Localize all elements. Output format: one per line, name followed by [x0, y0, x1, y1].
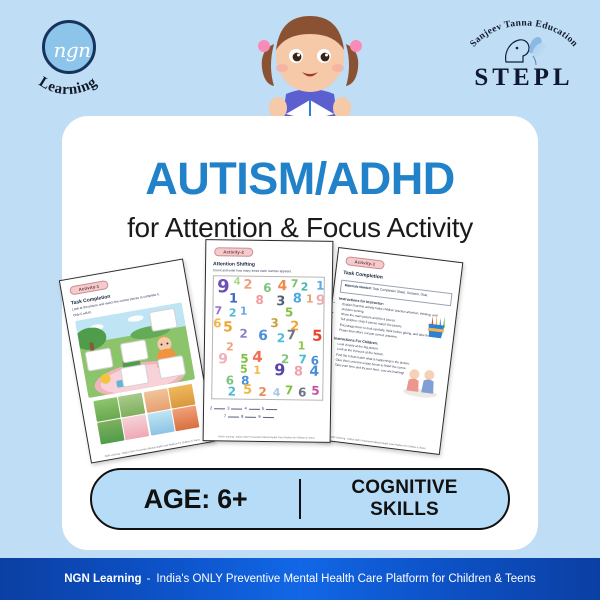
grid-number: 7: [285, 385, 294, 397]
ngn-learning-logo: ngn Learning: [26, 18, 110, 98]
worksheet-footer: NGN Learning - India's ONLY Preventive M…: [316, 434, 439, 452]
footer-dash: -: [147, 573, 151, 585]
age-label: AGE: 6+: [92, 484, 299, 515]
worksheet-footer: NGN Learning - India's ONLY Preventive M…: [204, 435, 330, 440]
puzzle-piece[interactable]: [93, 397, 120, 422]
grid-number: 8: [293, 292, 302, 305]
svg-text:Learning: Learning: [36, 74, 100, 98]
grid-number: 7: [287, 330, 296, 343]
puzzle-piece[interactable]: [143, 388, 170, 413]
page-title: AUTISM/ADHD: [62, 156, 538, 201]
stepl-logo: Sanjeev Tanna Education STEPL: [462, 14, 586, 98]
grid-number: 6: [298, 386, 307, 398]
grid-number: 4: [234, 278, 241, 288]
skill-line-2: SKILLS: [301, 499, 508, 521]
grid-number: 1: [298, 341, 306, 352]
worksheet-fan: Activity-1 Task Completion Look at the p…: [62, 238, 538, 460]
grid-number: 1: [253, 365, 261, 376]
grid-number: 5: [312, 329, 323, 344]
grid-number: 8: [255, 294, 264, 306]
grid-number: 1: [316, 280, 325, 292]
answer-label: 7: [224, 414, 226, 419]
grid-number: 2: [301, 281, 309, 292]
materials-label: Materials Needed:: [345, 283, 373, 290]
worksheet-card-middle[interactable]: Activity-2 Attention Shifting Count and …: [203, 239, 334, 443]
grid-number: 2: [258, 385, 267, 397]
pencil-cup-icon: [424, 311, 449, 339]
puzzle-piece[interactable]: [147, 410, 174, 435]
activity-badge: Activity-2: [214, 247, 253, 257]
grid-number: 7: [291, 279, 299, 290]
grid-number: 6: [213, 318, 222, 330]
grid-number: 4: [273, 387, 281, 398]
worksheet-card-left[interactable]: Activity-1 Task Completion Look at the p…: [59, 258, 215, 463]
grid-number: 3: [270, 317, 279, 329]
grid-number: 6: [258, 329, 268, 343]
grid-number: 7: [214, 306, 222, 317]
grid-number: 5: [243, 384, 252, 397]
picnic-scene-artwork: [75, 302, 195, 398]
title-autism: AUTISM: [145, 153, 315, 204]
title-adhd: ADHD: [327, 153, 455, 204]
grid-number: 2: [277, 332, 286, 344]
grid-number: 2: [228, 385, 237, 397]
puzzle-piece[interactable]: [118, 392, 145, 417]
grid-number: 2: [229, 307, 237, 318]
grid-number: 9: [316, 294, 325, 308]
answer-label: 8: [241, 414, 243, 419]
footer-bar: NGN Learning - India's ONLY Preventive M…: [0, 558, 600, 600]
puzzle-piece[interactable]: [172, 406, 199, 431]
stepl-wordmark: STEPL: [462, 64, 586, 92]
answer-blanks[interactable]: 2345 789: [210, 404, 326, 422]
face-flower-icon: [502, 32, 548, 66]
grid-number: 7: [298, 353, 307, 365]
worksheet-card-right[interactable]: Activity-1 Task Completion Materials Nee…: [315, 247, 464, 455]
grid-number: 5: [311, 385, 320, 397]
puzzle-piece[interactable]: [122, 415, 149, 440]
worksheet-subtitle: Count and write how many times each numb…: [213, 268, 332, 274]
grid-number: 1: [306, 293, 314, 304]
skill-line-1: COGNITIVE: [301, 477, 508, 499]
answer-label: 4: [244, 406, 246, 411]
footer-tagline: India's ONLY Preventive Mental Health Ca…: [156, 573, 535, 585]
grid-number: 2: [239, 328, 248, 340]
answer-label: 5: [262, 406, 264, 411]
answer-row: 789: [224, 413, 326, 423]
ngn-arc-label: Learning: [36, 74, 100, 98]
grid-number: 1: [229, 292, 238, 305]
grid-number: 9: [218, 352, 228, 366]
ngn-logo-arc: Learning: [24, 48, 112, 98]
grid-number: 5: [223, 320, 233, 334]
grid-number: 5: [285, 306, 294, 318]
title-slash: /: [315, 153, 327, 204]
footer-brand: NGN Learning: [64, 573, 141, 585]
skill-label: COGNITIVE SKILLS: [301, 477, 508, 522]
age-skill-pill: AGE: 6+ COGNITIVE SKILLS: [90, 468, 510, 530]
kids-illustration: [400, 361, 444, 400]
grid-number: 6: [263, 282, 272, 294]
puzzle-piece[interactable]: [97, 419, 124, 444]
grid-number: 4: [309, 364, 319, 378]
grid-number: 9: [217, 279, 230, 297]
grid-number: 2: [243, 279, 252, 292]
answer-label: 3: [227, 405, 229, 410]
grid-number: 8: [294, 365, 303, 378]
grid-number: 1: [240, 306, 248, 317]
main-content-card: AUTISM/ADHD for Attention & Focus Activi…: [62, 116, 538, 550]
answer-label: 2: [210, 405, 212, 410]
materials-text: Task Completion Sheet, Scissors, Glue.: [372, 286, 428, 297]
worksheet-title: Attention Shifting: [213, 261, 332, 269]
puzzle-piece[interactable]: [168, 383, 195, 408]
answer-label: 9: [258, 414, 260, 419]
poster-root: ngn Learning Sanjeev Tanna Education STE…: [0, 0, 600, 600]
grid-number: 9: [274, 362, 285, 378]
grid-number: 4: [277, 280, 287, 294]
number-search-grid: 9426472118381972156532262752195427651984…: [211, 275, 325, 401]
activity-badge: Activity-1: [345, 256, 385, 270]
